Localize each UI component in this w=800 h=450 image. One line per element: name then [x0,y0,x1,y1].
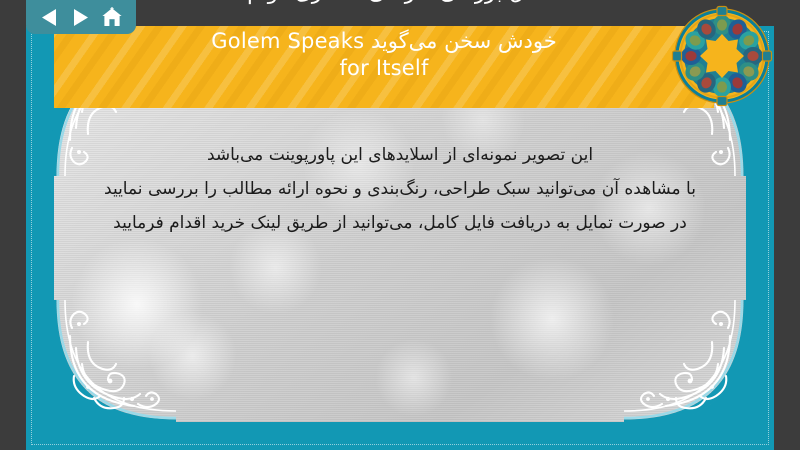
triangle-left-icon [41,8,58,27]
next-slide-button[interactable] [68,4,94,30]
triangle-right-icon [72,8,89,27]
title-line-3: for Itself [339,55,428,82]
body-line-3: در صورت تمایل به دریافت فایل کامل، می‌تو… [86,206,714,240]
slide-canvas: خودش سخن می‌گوید Golem Speaks for Itself… [26,26,774,450]
title-banner: خودش سخن می‌گوید Golem Speaks for Itself [54,26,714,108]
title-line-2: خودش سخن می‌گوید Golem Speaks [211,28,556,55]
home-button[interactable] [99,4,125,30]
body-line-1: این تصویر نمونه‌ای از اسلایدهای این پاور… [86,138,714,172]
body-line-2: با مشاهده آن می‌توانید سبک طراحی، رنگ‌بن… [86,172,714,206]
previous-slide-button[interactable] [37,4,63,30]
persian-mandala-medallion [670,4,774,108]
home-icon [101,7,123,28]
viewer-navigation-bar [26,0,136,34]
slide-viewer: خودش سخن می‌گوید Golem Speaks for Itself… [0,0,800,450]
slide-body-text: این تصویر نمونه‌ای از اسلایدهای این پاور… [86,138,714,240]
